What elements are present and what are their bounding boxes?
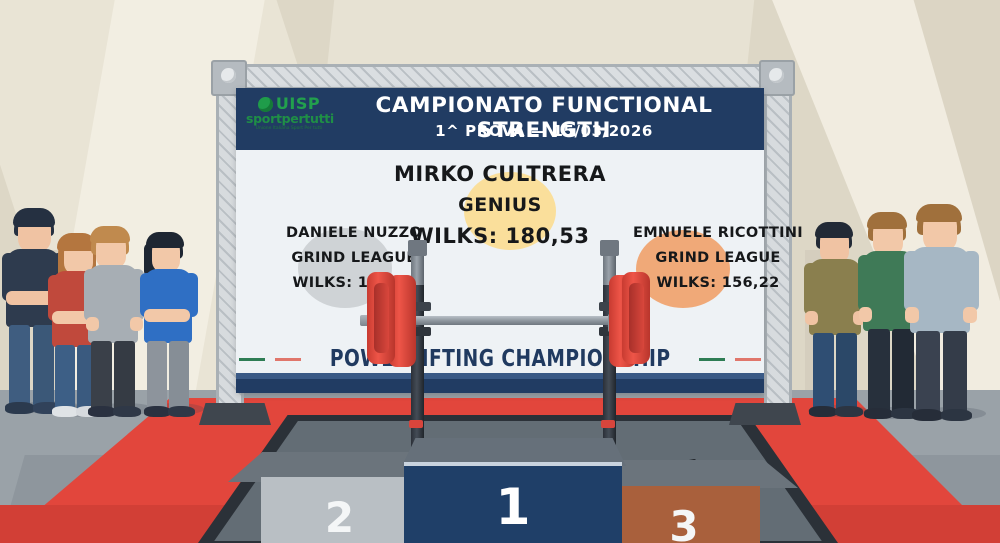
scene-root: UISP sportpertutti Unione Italiana Sport… xyxy=(0,0,1000,543)
barbell-bar xyxy=(386,316,616,325)
rack-left-collar xyxy=(408,240,427,256)
podium-2-face: 2 xyxy=(261,477,418,543)
rack-left-foot xyxy=(409,420,423,428)
podium-number-3: 3 xyxy=(608,502,760,543)
weight-plate-left-hub xyxy=(374,283,389,353)
rack-right-foot xyxy=(601,420,615,428)
podium-1-face: 1 xyxy=(404,466,622,543)
podium-number-2: 2 xyxy=(261,493,418,542)
podium-number-1: 1 xyxy=(404,478,622,536)
weight-plate-right-hub xyxy=(629,283,644,353)
podium-3-face: 3 xyxy=(608,486,760,543)
rack-right-collar xyxy=(600,240,619,256)
